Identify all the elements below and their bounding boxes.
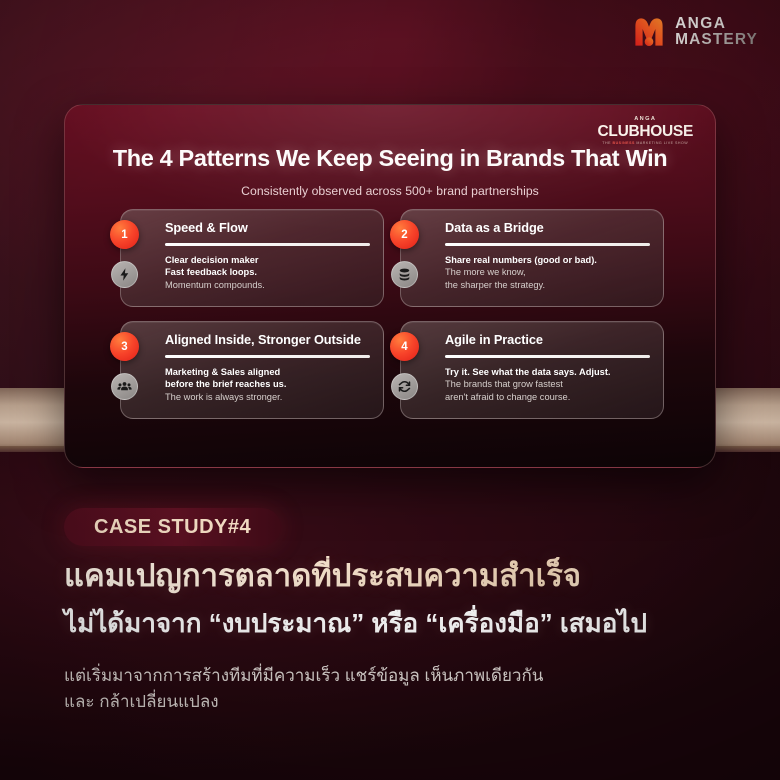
people-group-icon [111,373,138,400]
pattern-number-badge: 2 [390,220,419,249]
pattern-body-line: Marketing & Sales aligned [165,366,370,379]
clubhouse-wordmark: CL U BHOUSE [598,124,693,140]
pattern-divider [165,243,370,246]
pattern-number-badge: 4 [390,332,419,361]
pattern-body-line: The work is always stronger. [165,391,370,404]
pattern-title: Aligned Inside, Stronger Outside [165,333,370,349]
pattern-body-line: Try it. See what the data says. Adjust. [445,366,650,379]
pattern-body-line: Fast feedback loops. [165,266,370,279]
patterns-grid: 1 Speed & Flow Clear decision maker Fast… [120,209,664,419]
anga-mastery-logo: ANGA MASTERY [632,16,758,48]
pattern-body: Marketing & Sales aligned before the bri… [165,366,370,404]
pattern-number-badge: 3 [110,332,139,361]
database-icon [391,261,418,288]
clubhouse-word-part-3: BHOUSE [628,124,693,140]
brand-wordmark: ANGA MASTERY [675,16,758,48]
pattern-divider [445,355,650,358]
pattern-card-1[interactable]: 1 Speed & Flow Clear decision maker Fast… [120,209,384,307]
pattern-body-line: the sharper the strategy. [445,279,650,292]
pattern-card-2[interactable]: 2 Data as a Bridge Share real numbers (g… [400,209,664,307]
footer-body: แต่เริ่มมาจากการสร้างทีมที่มีความเร็ว แช… [64,663,724,715]
clubhouse-tagline-pre: THE [602,141,612,145]
lightning-bolt-icon [111,261,138,288]
pattern-body: Clear decision maker Fast feedback loops… [165,254,370,292]
slide-panel: ANGA CL U BHOUSE THE BUSINESS MARKETING … [64,104,716,468]
footer-body-line-1: แต่เริ่มมาจากการสร้างทีมที่มีความเร็ว แช… [64,663,724,689]
brand-line-anga: ANGA [675,16,758,32]
pattern-title: Speed & Flow [165,221,370,237]
clubhouse-eyebrow: ANGA [598,117,693,123]
pattern-card-3[interactable]: 3 Aligned Inside, Stronger Outside Marke… [120,321,384,419]
brand-line-mastery: MASTERY [675,32,758,48]
pattern-title: Agile in Practice [445,333,650,349]
pattern-title: Data as a Bridge [445,221,650,237]
refresh-sync-icon [391,373,418,400]
clubhouse-word-part-1: CL [598,124,618,140]
pattern-body-line: aren't afraid to change course. [445,391,650,404]
pattern-card-4[interactable]: 4 Agile in Practice Try it. See what the… [400,321,664,419]
footer-headline-primary: แคมเปญการตลาดที่ประสบความสำเร็จ [64,556,724,596]
pattern-body-line: Clear decision maker [165,254,370,267]
pattern-body: Try it. See what the data says. Adjust. … [445,366,650,404]
pattern-body-line: The brands that grow fastest [445,378,650,391]
panel-title: The 4 Patterns We Keep Seeing in Brands … [65,145,715,172]
pattern-body-line: Share real numbers (good or bad). [445,254,650,267]
case-study-label: CASE STUDY#4 [94,516,251,539]
clubhouse-tagline-post: MARKETING LIVE SHOW [635,141,688,145]
clubhouse-tagline-strong: BUSINESS [612,141,634,145]
footer-headline-secondary: ไม่ได้มาจาก “งบประมาณ” หรือ “เครื่องมือ”… [64,607,744,641]
case-study-badge: CASE STUDY#4 [64,508,281,546]
pattern-body-line: before the brief reaches us. [165,378,370,391]
panel-subtitle: Consistently observed across 500+ brand … [65,184,715,198]
pattern-body-line: Momentum compounds. [165,279,370,292]
pattern-body: Share real numbers (good or bad). The mo… [445,254,650,292]
anga-clubhouse-badge: ANGA CL U BHOUSE THE BUSINESS MARKETING … [598,117,693,145]
pattern-body-line: The more we know, [445,266,650,279]
pattern-divider [165,355,370,358]
pattern-divider [445,243,650,246]
anga-m-logo-icon [632,17,666,47]
pattern-number-badge: 1 [110,220,139,249]
footer-body-line-2: และ กล้าเปลี่ยนแปลง [64,689,724,715]
clubhouse-word-part-2: U [618,124,629,140]
